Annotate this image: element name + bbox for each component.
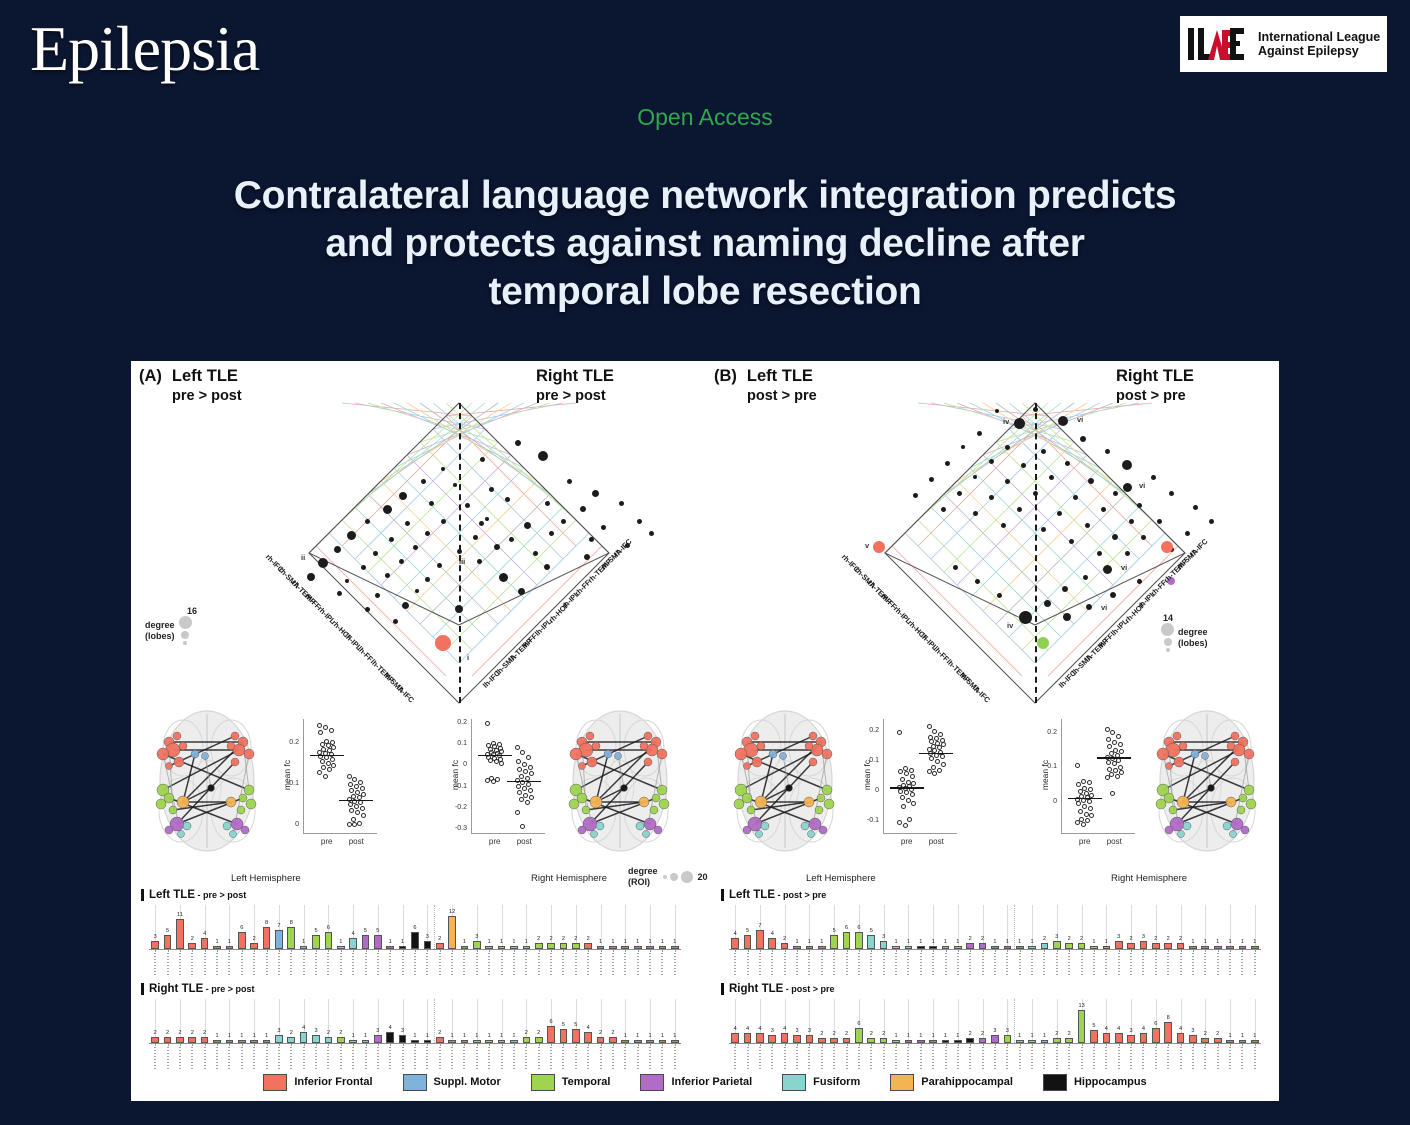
brain-node	[237, 806, 245, 814]
matrix-node	[489, 487, 494, 492]
matrix-node	[975, 579, 980, 584]
legend-item: Fusiform	[782, 1074, 860, 1091]
bar-value-label: 1	[669, 939, 681, 945]
matrix-node	[1105, 449, 1110, 454]
brain-node	[231, 732, 239, 740]
bar-x-tick-label-glyphs	[501, 953, 503, 977]
bar-value-label: 1	[384, 939, 396, 945]
bar-x-tick-label-glyphs	[771, 953, 773, 977]
bar-x-tick-label-glyphs	[327, 1047, 329, 1071]
bar-x-tick-label-glyphs	[1081, 953, 1083, 977]
matrix-node	[1063, 613, 1071, 621]
bar-value-label: 1	[669, 1033, 681, 1039]
bar-x-tick-label-glyphs	[303, 953, 305, 977]
bar-value-label: 2	[533, 936, 545, 942]
bar-x-tick-label-glyphs	[1204, 1047, 1206, 1071]
bar-chart-axis	[729, 1043, 1261, 1044]
scatter-point	[348, 802, 353, 807]
scatter-point	[361, 792, 366, 797]
bar-x-tick-label-glyphs	[957, 953, 959, 977]
scatter-point	[522, 762, 527, 767]
matrix-node	[1125, 551, 1130, 556]
bar-x-tick-label-glyphs	[1006, 1047, 1008, 1071]
bar-value-label: 1	[791, 939, 803, 945]
brain-node	[1183, 822, 1191, 830]
matrix-node	[619, 501, 624, 506]
brain-node	[1178, 831, 1185, 838]
bar-value-label: 3	[310, 1028, 322, 1034]
scatter-point	[488, 758, 493, 763]
scatter-point	[1075, 820, 1080, 825]
legend-label: Inferior Frontal	[294, 1076, 372, 1088]
brain-node	[1223, 822, 1231, 830]
scatter-point	[1088, 806, 1093, 811]
brain-node	[174, 757, 184, 767]
bar-x-tick-label-glyphs	[1167, 1047, 1169, 1071]
bar-x-tick-label-glyphs	[513, 1047, 515, 1071]
bar-value-label: 4	[198, 931, 210, 937]
scatter-point	[911, 781, 916, 786]
bar-value-label: 1	[1212, 939, 1224, 945]
bar	[1152, 1028, 1160, 1043]
bar-chart-plot: 4443433222622111111223311122135443468432…	[729, 999, 1261, 1043]
bar	[855, 1028, 863, 1043]
scatter-mean-line	[339, 800, 373, 802]
bar-x-tick-label-glyphs	[1118, 953, 1120, 977]
bar-x-tick-label-glyphs	[278, 1047, 280, 1071]
bar	[151, 941, 159, 949]
scatter-point	[360, 806, 365, 811]
bar-x-tick-label-glyphs	[870, 1047, 872, 1071]
bar-value-label: 1	[409, 1033, 421, 1039]
bar-x-tick-label-glyphs	[1229, 953, 1231, 977]
scatter-point	[1115, 774, 1120, 779]
matrix-node	[457, 549, 462, 554]
scatter-point	[1110, 730, 1115, 735]
bar-value-label: 4	[347, 931, 359, 937]
bar-value-label: 1	[816, 939, 828, 945]
scatter-point	[909, 768, 914, 773]
bar-value-label: 1	[632, 1033, 644, 1039]
scatter-mean-line	[507, 781, 541, 783]
scatter-point	[910, 792, 915, 797]
bar-x-tick-label-glyphs	[945, 953, 947, 977]
bar-x-tick-label-glyphs	[402, 1047, 404, 1071]
scatter-point	[900, 795, 905, 800]
bar-chart-title-main: Left TLE	[729, 889, 775, 901]
scatter-point	[354, 804, 359, 809]
scatter-mean-line	[890, 787, 924, 789]
brain-node	[570, 748, 582, 760]
bar-x-tick-label-glyphs	[1043, 953, 1045, 977]
brain-node	[166, 763, 173, 770]
bar-value-label: 1	[483, 1033, 495, 1039]
scatter-point	[1084, 812, 1089, 817]
bar	[238, 932, 246, 949]
bar-chart-right-tle-pre-gt-post: Right TLE - pre > post222221111132432211…	[139, 983, 689, 1073]
bar-x-tick-label-glyphs	[1056, 1047, 1058, 1071]
degree-legend-circle-small	[1166, 648, 1170, 652]
bar-chart-plot: 4574211156653111111221111232211323222111…	[729, 905, 1261, 949]
legend-swatch	[403, 1074, 427, 1091]
matrix-node	[318, 558, 328, 568]
legend-item: Temporal	[531, 1074, 611, 1091]
bar-value-label: 11	[174, 912, 186, 918]
bar-x-tick-label-glyphs	[1254, 953, 1256, 977]
scatter-point	[911, 801, 916, 806]
bar-value-label: 2	[976, 1031, 988, 1037]
bar-x-tick-label-glyphs	[191, 953, 193, 977]
brain-node	[654, 826, 662, 834]
matrix-node	[1058, 416, 1068, 426]
brain-node	[173, 732, 181, 740]
scatter-y-tick: 0.1	[1037, 763, 1057, 770]
scatter-point	[349, 808, 354, 813]
bar-x-tick-label-glyphs	[637, 953, 639, 977]
scatter-x-axis	[471, 833, 545, 834]
bar	[756, 1033, 764, 1043]
bar-x-tick-label-glyphs	[932, 953, 934, 977]
matrix-node	[515, 440, 521, 446]
brain-node	[1173, 732, 1181, 740]
matrix-node	[1086, 604, 1092, 610]
scatter-point	[349, 788, 354, 793]
brain-node	[596, 822, 604, 830]
bar-value-label: 1	[619, 1033, 631, 1039]
bar	[176, 919, 184, 949]
bar-x-tick-label-glyphs	[315, 953, 317, 977]
bar-value-label: 3	[1001, 1028, 1013, 1034]
scatter-point	[1110, 791, 1115, 796]
bar-x-tick-label-glyphs	[858, 953, 860, 977]
bar-value-label: 8	[285, 920, 297, 926]
bar-x-tick-label-glyphs	[241, 953, 243, 977]
matrix-node	[485, 517, 489, 521]
bar-x-tick-label-glyphs	[315, 1047, 317, 1071]
page-title: Contralateral language network integrati…	[70, 172, 1340, 316]
roi-degree-label-1: degree	[628, 866, 658, 877]
bar-x-tick-label-glyphs	[352, 1047, 354, 1071]
scatter-point	[932, 729, 937, 734]
brain-node	[1244, 785, 1254, 795]
bar-x-tick-label-glyphs	[365, 953, 367, 977]
scatter-point	[331, 745, 336, 750]
scatter-x-tick: post	[343, 837, 369, 846]
panel-a-left-scatter: mean fc00.10.2prepost	[273, 713, 383, 853]
panel-b-degree-label-2: (lobes)	[1178, 638, 1208, 649]
matrix-node	[997, 593, 1002, 598]
scatter-point	[360, 786, 365, 791]
bar-value-label: 1	[495, 939, 507, 945]
scatter-y-tick: -0.3	[447, 825, 467, 832]
matrix-node	[1112, 534, 1118, 540]
bar-chart-axis	[149, 1043, 681, 1044]
bar	[374, 1035, 382, 1043]
bar-value-label: 1	[396, 939, 408, 945]
bar-value-label: 2	[1075, 936, 1087, 942]
matrix-annotation-ii: ii	[301, 553, 305, 562]
matrix-node	[345, 579, 349, 583]
bar-value-label: 1	[632, 939, 644, 945]
bar-value-label: 2	[186, 1030, 198, 1036]
bar-chart-title-main: Left TLE	[149, 889, 195, 901]
bar-value-label: 4	[582, 1025, 594, 1031]
degree-legend-circle-medium	[1164, 638, 1172, 646]
bar-x-tick-label-glyphs	[562, 953, 564, 977]
bar-x-tick-label-glyphs	[661, 953, 663, 977]
matrix-node	[399, 559, 404, 564]
bar-value-label: 1	[890, 1033, 902, 1039]
bar-x-tick-label-glyphs	[228, 953, 230, 977]
scatter-point	[898, 789, 903, 794]
bar-x-tick-label-glyphs	[883, 1047, 885, 1071]
bar-value-label: 3	[471, 934, 483, 940]
matrix-node	[347, 531, 356, 540]
scatter-point	[904, 771, 909, 776]
bar-x-tick-label-glyphs	[846, 953, 848, 977]
bar-x-tick-label-glyphs	[969, 1047, 971, 1071]
scatter-point	[321, 765, 326, 770]
bar-value-label: 1	[902, 939, 914, 945]
legend-swatch	[1043, 1074, 1067, 1091]
bar-value-label: 2	[1051, 1031, 1063, 1037]
bar	[1090, 1030, 1098, 1043]
bar	[424, 941, 432, 949]
bar-chart-title: Left TLE - post > pre	[721, 889, 826, 901]
bar	[744, 935, 752, 949]
bar-value-label: 2	[520, 1030, 532, 1036]
matrix-node	[1033, 491, 1038, 496]
bar-x-tick-label-glyphs	[661, 1047, 663, 1071]
bar-value-label: 6	[545, 1019, 557, 1025]
brain-node	[1174, 757, 1184, 767]
bar	[386, 1032, 394, 1043]
panel-a-tag: (A)	[139, 367, 162, 386]
brain-node	[157, 748, 169, 760]
matrix-node	[1157, 519, 1162, 524]
brain-node	[822, 785, 832, 795]
bar-x-tick-label-glyphs	[1105, 1047, 1107, 1071]
bar-x-tick-label-glyphs	[525, 1047, 527, 1071]
bar-x-tick-label-glyphs	[167, 953, 169, 977]
bar	[399, 1035, 407, 1043]
bar-x-tick-label-glyphs	[994, 1047, 996, 1071]
matrix-node	[524, 522, 531, 529]
bar-value-label: 2	[434, 936, 446, 942]
scatter-point	[352, 822, 357, 827]
bar-x-tick-label-glyphs	[895, 953, 897, 977]
scatter-point	[355, 790, 360, 795]
bar-value-label: 1	[607, 939, 619, 945]
matrix-node	[494, 544, 500, 550]
bar-value-label: 4	[766, 931, 778, 937]
bar-value-label: 1	[1038, 1033, 1050, 1039]
bar	[1115, 1033, 1123, 1043]
bar-x-tick-label-glyphs	[501, 1047, 503, 1071]
bar-value-label: 1	[471, 1033, 483, 1039]
bar-x-tick-label-glyphs	[204, 953, 206, 977]
brain-node	[761, 822, 769, 830]
scatter-x-tick: pre	[1072, 837, 1098, 846]
matrix-node	[1041, 449, 1046, 454]
legend-label: Inferior Parietal	[671, 1076, 752, 1088]
brain-glass-right-b	[1143, 706, 1271, 856]
matrix-node	[437, 563, 442, 568]
panel-b-midline	[1035, 403, 1037, 703]
matrix-annotation-v: v	[865, 541, 869, 550]
bar-value-label: 5	[310, 928, 322, 934]
matrix-node	[649, 531, 654, 536]
roi-legend-circle-large	[681, 871, 693, 883]
bar-value-label: 1	[1224, 939, 1236, 945]
bar-value-label: 2	[335, 1030, 347, 1036]
scatter-point	[516, 784, 521, 789]
matrix-annotation-vi: vi	[1121, 563, 1127, 572]
bar-value-label: 4	[729, 931, 741, 937]
panel-b-degree-legend: 14 degree (lobes)	[1161, 613, 1208, 652]
bar-x-tick-label-glyphs	[883, 953, 885, 977]
bar-x-tick-label-glyphs	[920, 1047, 922, 1071]
bar-value-label: 2	[545, 936, 557, 942]
brain-node	[244, 785, 254, 795]
legend-label: Suppl. Motor	[434, 1076, 501, 1088]
scatter-y-tick: 0.1	[279, 780, 299, 787]
brain-node	[751, 732, 759, 740]
bar	[325, 932, 333, 949]
scatter-point	[327, 767, 332, 772]
scatter-y-axis	[471, 719, 472, 833]
brain-node	[156, 799, 166, 809]
bar-value-label: 5	[865, 928, 877, 934]
bar-value-label: 1	[1199, 939, 1211, 945]
scatter-point	[330, 757, 335, 762]
bar-x-tick-label-glyphs	[451, 1047, 453, 1071]
brain-node	[208, 785, 215, 792]
matrix-node	[1021, 463, 1026, 468]
bar-x-tick-label-glyphs	[858, 1047, 860, 1071]
matrix-node	[995, 409, 999, 413]
bar-x-tick-label-glyphs	[550, 953, 552, 977]
bar	[855, 932, 863, 949]
legend-item: Parahippocampal	[890, 1074, 1013, 1091]
bar-x-tick-label-glyphs	[154, 953, 156, 977]
brain-node	[1191, 750, 1199, 758]
bar-value-label: 4	[754, 1026, 766, 1032]
panel-a-connectivity-matrix: rh-IFCrh-SMArh-TEMPrh-FFrh-IPLrh-HCFlh-I…	[191, 381, 701, 721]
bar	[731, 1033, 739, 1043]
brain-node	[179, 742, 187, 750]
bar-value-label: 1	[1026, 1033, 1038, 1039]
hemisphere-label-right-b: Right Hemisphere	[1111, 873, 1187, 884]
matrix-node	[1113, 491, 1118, 496]
bar-x-tick-label-glyphs	[278, 953, 280, 977]
bar-value-label: 3	[1187, 1028, 1199, 1034]
bar-value-label: 2	[582, 936, 594, 942]
bar-x-tick-label-glyphs	[624, 953, 626, 977]
scatter-point	[523, 793, 528, 798]
scatter-y-tick: -0.1	[447, 783, 467, 790]
matrix-annotation-iv: iv	[1003, 417, 1009, 426]
bar-value-label: 1	[421, 1033, 433, 1039]
legend-item: Inferior Parietal	[640, 1074, 752, 1091]
brain-node	[650, 806, 658, 814]
brain-node	[1208, 785, 1215, 792]
bar-x-tick-label-glyphs	[538, 1047, 540, 1071]
matrix-node	[1037, 637, 1049, 649]
scatter-point	[1079, 817, 1084, 822]
brain-node	[165, 826, 173, 834]
scatter-point	[932, 771, 937, 776]
bar-x-tick-label-glyphs	[833, 953, 835, 977]
bar	[473, 941, 481, 949]
bar-value-label: 1	[939, 1033, 951, 1039]
bar-value-label: 4	[297, 1025, 309, 1031]
bar-value-label: 1	[656, 939, 668, 945]
bar-value-label: 2	[607, 1030, 619, 1036]
scatter-point	[1113, 768, 1118, 773]
bar-chart-title: Right TLE - pre > post	[141, 983, 255, 995]
bar	[880, 941, 888, 949]
hemisphere-label-left-b: Left Hemisphere	[806, 873, 876, 884]
bar-value-label: 2	[285, 1030, 297, 1036]
bar-value-label: 1	[1014, 939, 1026, 945]
bar-x-tick-label-glyphs	[784, 1047, 786, 1071]
bar-chart-left-tle-pre-gt-post: Left TLE - pre > post3511241162878156145…	[139, 889, 689, 979]
scatter-y-tick: -0.2	[447, 804, 467, 811]
bar-x-tick-label-glyphs	[674, 953, 676, 977]
matrix-annotation-iv: iv	[1007, 621, 1013, 630]
brain-node	[578, 826, 586, 834]
scatter-point	[1105, 775, 1110, 780]
bar-x-tick-label-glyphs	[870, 953, 872, 977]
bar-x-tick-label-glyphs	[426, 1047, 428, 1071]
bar-chart-left-tle-post-gt-pre: Left TLE - post > pre4574211156653111111…	[719, 889, 1269, 979]
bar-chart-plot: 2222211111324322113431121111112265542211…	[149, 999, 681, 1043]
bar-x-tick-label-glyphs	[1167, 953, 1169, 977]
brain-node	[744, 763, 751, 770]
matrix-node	[429, 501, 434, 506]
panel-b-degree-value: 14	[1163, 613, 1208, 623]
matrix-node	[365, 519, 370, 524]
legend-label: Temporal	[562, 1076, 611, 1088]
brain-glass-right-a	[556, 706, 684, 856]
ilae-logo: International League Against Epilepsy	[1180, 16, 1387, 72]
bar-x-tick-label-glyphs	[340, 953, 342, 977]
scatter-point	[525, 800, 530, 805]
brain-node	[659, 799, 669, 809]
scatter-y-axis-label: mean fc	[450, 745, 460, 805]
scatter-point	[1089, 793, 1094, 798]
journal-logo: Epilepsia	[30, 12, 259, 86]
scatter-y-axis	[883, 719, 884, 833]
bar	[411, 932, 419, 949]
brain-node	[769, 750, 777, 758]
brain-node	[1165, 826, 1173, 834]
scatter-y-tick: 0	[279, 821, 299, 828]
matrix-node	[561, 519, 566, 524]
scatter-point	[904, 790, 909, 795]
matrix-node	[549, 531, 554, 536]
matrix-node	[545, 501, 550, 506]
bar-value-label: 5	[1088, 1023, 1100, 1029]
scatter-point	[1107, 767, 1112, 772]
bar-value-label: 3	[273, 1028, 285, 1034]
matrix-node	[518, 588, 525, 595]
brain-node	[1237, 806, 1245, 814]
matrix-node	[929, 477, 934, 482]
legend-swatch	[890, 1074, 914, 1091]
brain-node	[246, 799, 256, 809]
